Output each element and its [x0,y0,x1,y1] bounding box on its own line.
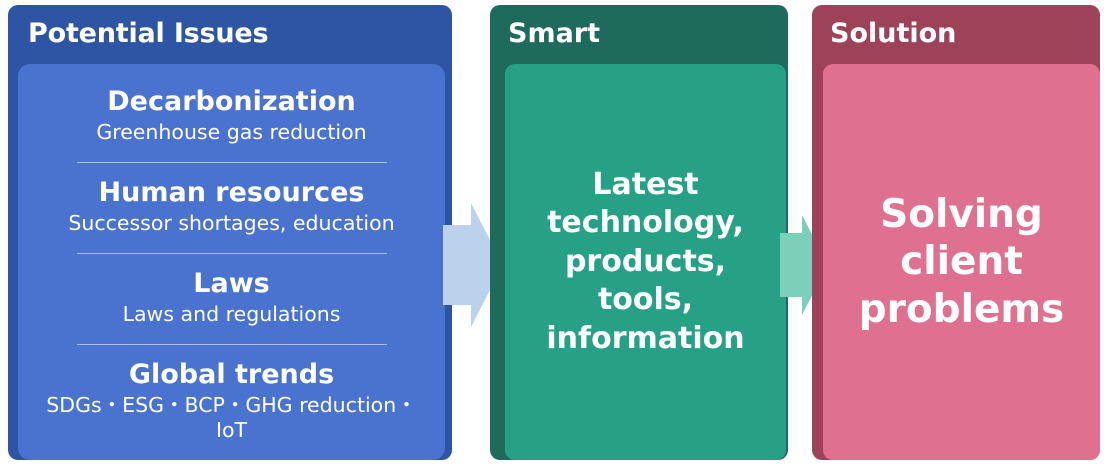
issue-subtext: Laws and regulations [32,302,431,327]
divider [77,344,387,345]
panel-smart-title: Smart [508,18,600,49]
issue-item-human-resources: Human resources Successor shortages, edu… [32,177,431,236]
panel-potential-issues-body: Decarbonization Greenhouse gas reduction… [18,64,445,460]
panel-solution-body: Solving client problems [823,64,1100,460]
issue-heading: Global trends [32,359,431,390]
issue-item-decarbonization: Decarbonization Greenhouse gas reduction [32,86,431,145]
issue-item-laws: Laws Laws and regulations [32,268,431,327]
panel-potential-issues-title: Potential Issues [28,18,268,49]
issue-heading: Human resources [32,177,431,208]
issue-heading: Laws [32,268,431,299]
diagram-canvas: Potential Issues Decarbonization Greenho… [0,0,1107,465]
panel-smart-body: Latest technology, products, tools, info… [505,64,786,460]
issue-subtext: Greenhouse gas reduction [32,120,431,145]
panel-solution-title: Solution [830,18,956,49]
issue-heading: Decarbonization [32,86,431,117]
divider [77,162,387,163]
issue-subtext: SDGs・ESG・BCP・GHG reduction・IoT [32,393,431,442]
issue-item-global-trends: Global trends SDGs・ESG・BCP・GHG reduction… [32,359,431,442]
divider [77,253,387,254]
issue-subtext: Successor shortages, education [32,211,431,236]
